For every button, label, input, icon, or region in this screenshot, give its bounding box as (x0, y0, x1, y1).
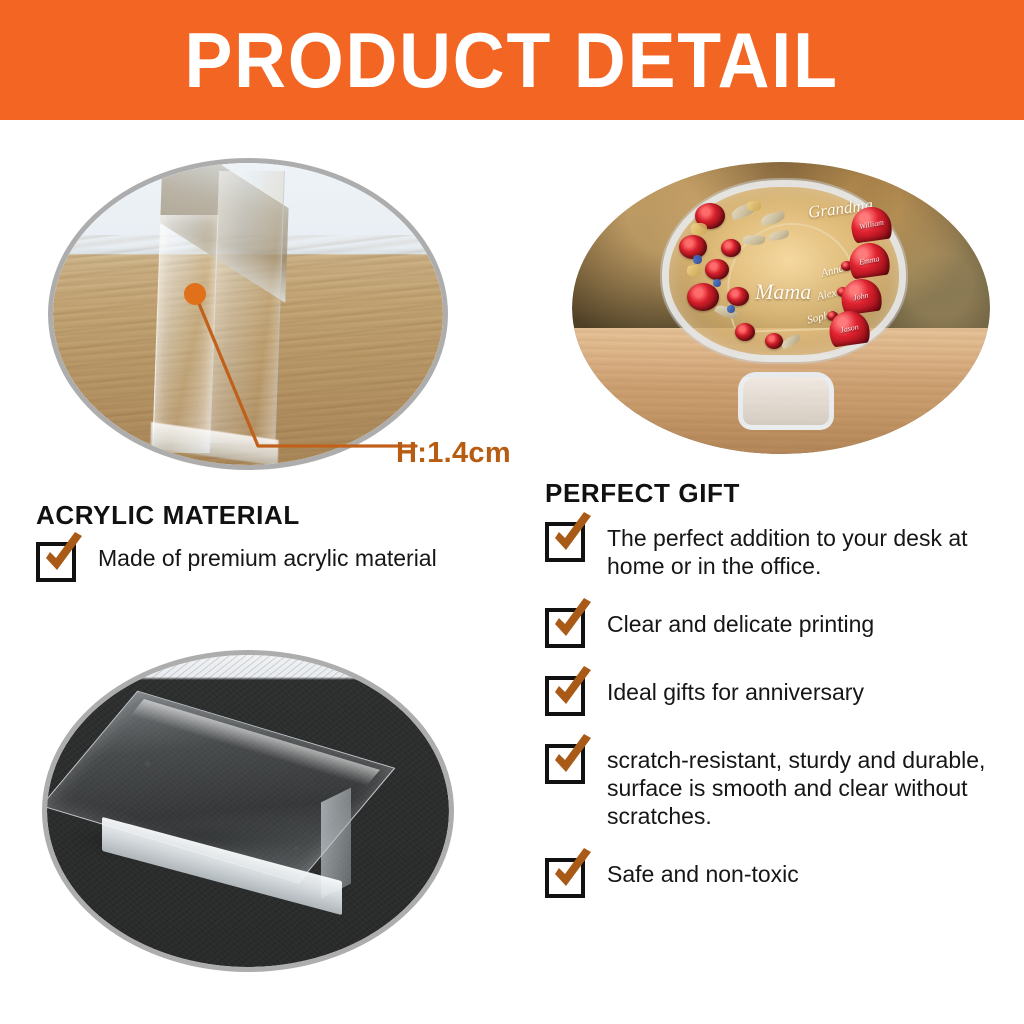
leaf-icon (780, 333, 802, 349)
callout-dot-icon (184, 283, 206, 305)
rose-icon (727, 287, 749, 306)
callout-leader-line (180, 280, 420, 470)
feature-list-acrylic-material: Made of premium acrylic material (36, 540, 516, 604)
feature-text: Safe and non-toxic (607, 856, 799, 888)
page-header-banner: PRODUCT DETAIL (0, 0, 1024, 120)
feature-list-perfect-gift: The perfect addition to your desk at hom… (545, 520, 1013, 924)
checkbox-checked[interactable] (545, 522, 585, 562)
checkbox-checked[interactable] (545, 608, 585, 648)
rose-icon (765, 333, 783, 349)
feature-item: Clear and delicate printing (545, 606, 1013, 648)
rose-icon (687, 283, 719, 311)
feature-item: The perfect addition to your desk at hom… (545, 520, 1013, 580)
plaque-body: Grandma Mama Anna Alex Sophia (662, 180, 906, 362)
plaque-center-name: Mama (755, 279, 811, 305)
check-icon (546, 664, 598, 716)
section-heading-acrylic-material: ACRYLIC MATERIAL (36, 500, 300, 531)
blue-gem-accent (713, 279, 721, 287)
check-icon (546, 596, 598, 648)
check-icon (37, 530, 89, 582)
heart-balloon-label: John (853, 290, 870, 302)
gold-accent (687, 265, 701, 276)
section-heading-perfect-gift: PERFECT GIFT (545, 478, 740, 509)
blue-gem-accent (727, 305, 735, 313)
page-title: PRODUCT DETAIL (185, 21, 839, 99)
heart-balloon-label: Emma (858, 254, 880, 267)
check-icon (546, 510, 598, 562)
gold-accent (747, 201, 761, 211)
blue-gem-accent (693, 255, 702, 264)
rose-icon (705, 259, 729, 280)
feature-item: Safe and non-toxic (545, 856, 1013, 898)
feature-text: Clear and delicate printing (607, 606, 874, 638)
plaque-stand (738, 372, 834, 430)
feature-text: Made of premium acrylic material (98, 540, 437, 572)
check-icon (546, 846, 598, 898)
heart-balloon-label: William (858, 217, 884, 231)
photo-heart-plaque-inner: Grandma Mama Anna Alex Sophia (572, 162, 990, 454)
acrylic-heart-plaque: Grandma Mama Anna Alex Sophia (654, 180, 916, 432)
photo-acrylic-block-on-slate (42, 650, 454, 972)
feature-item: scratch-resistant, sturdy and durable, s… (545, 742, 1013, 830)
feature-item: Made of premium acrylic material (36, 540, 516, 582)
checkbox-checked[interactable] (36, 542, 76, 582)
heart-balloon-emma: Emma (847, 240, 891, 279)
feature-text: scratch-resistant, sturdy and durable, s… (607, 742, 1013, 830)
checkbox-checked[interactable] (545, 858, 585, 898)
checkbox-checked[interactable] (545, 676, 585, 716)
acrylic-block-object (89, 709, 389, 925)
product-detail-page: PRODUCT DETAIL (0, 0, 1024, 1024)
feature-text: Ideal gifts for anniversary (607, 674, 864, 706)
heart-balloon-label: Jason (839, 322, 859, 334)
rose-icon (721, 239, 741, 257)
gold-accent (691, 223, 707, 235)
rose-icon (735, 323, 755, 341)
photo-heart-plaque-on-table: Grandma Mama Anna Alex Sophia (572, 162, 990, 454)
feature-item: Ideal gifts for anniversary (545, 674, 1013, 716)
callout-height-label: H:1.4cm (396, 437, 511, 470)
checkbox-checked[interactable] (545, 744, 585, 784)
check-icon (546, 732, 598, 784)
feature-text: The perfect addition to your desk at hom… (607, 520, 1013, 580)
photo-acrylic-block-inner (47, 655, 449, 967)
